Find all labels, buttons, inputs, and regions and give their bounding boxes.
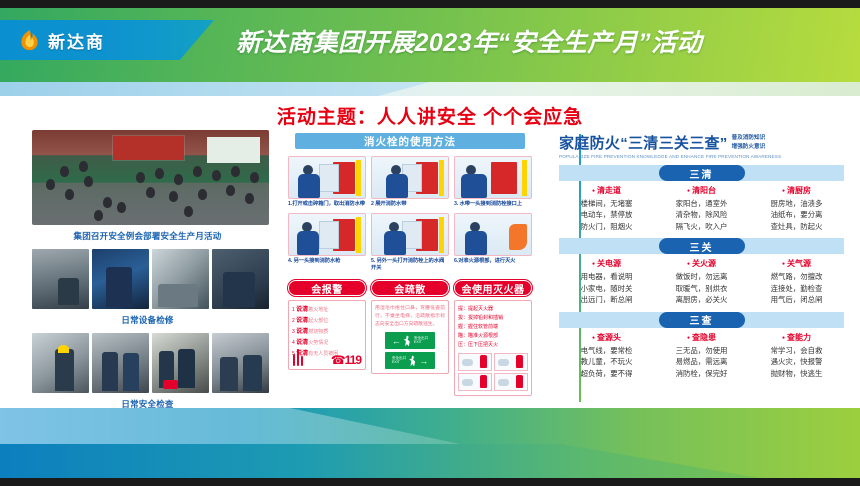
group-line: 用气后，闭总闸 xyxy=(749,294,844,305)
group-column-head: 关气源 xyxy=(749,258,844,269)
group-column: 清走道 楼梯间，无堵塞 电动车，禁停放 防火门，阻烟火 xyxy=(559,185,654,232)
group-line: 三无品，勿使用 xyxy=(654,345,749,356)
photo-inspection-4 xyxy=(212,333,269,393)
group-line: 电动车，禁停放 xyxy=(559,209,654,220)
extinguisher-diagram xyxy=(458,353,492,371)
photo-caption-maintenance: 日常设备检修 xyxy=(32,314,263,326)
group-line: 厨房地，油渍多 xyxy=(749,198,844,209)
group-column-head: 查能力 xyxy=(749,332,844,343)
poster-canvas: 新达商 新达商集团开展2023年“安全生产月”活动 活动主题：人人讲安全 个个会… xyxy=(0,0,860,486)
hydrant-step: 1.打开或击碎箱门，取出消防水带 xyxy=(288,156,366,209)
photo-row-maintenance xyxy=(32,249,269,309)
group-column: 清厨房 厨房地，油渍多 油纸布，要分离 查灶具，防起火 xyxy=(749,185,844,232)
group-pill: 三查 xyxy=(659,312,745,328)
group-line: 易燃品，需远离 xyxy=(654,356,749,367)
hydrant-step: 5. 另外一头打开消防栓上的水阀开关 xyxy=(371,213,449,273)
brand-name: 新达商 xyxy=(48,28,105,53)
content-columns: 集团召开安全例会部署安全生产月活动 日常设备检修 日常安全检查 消火栓的使用方法 xyxy=(0,130,860,408)
hydrant-panel-title: 消火栓的使用方法 xyxy=(294,132,526,150)
photo-caption-meeting: 集团召开安全例会部署安全生产月活动 xyxy=(32,230,263,242)
hydrant-step-image xyxy=(371,213,449,256)
header-divider-band xyxy=(0,82,860,96)
extinguisher-diagrams xyxy=(458,353,528,391)
photo-inspection-2 xyxy=(92,333,149,393)
photo-maintenance-3 xyxy=(152,249,209,309)
hydrant-panel: 消火栓的使用方法 1.打开或击碎箱门，取出消防水带 2 展开消防水带 xyxy=(275,130,545,408)
hydrant-step-caption: 6.对准火源根部，进行灭火 xyxy=(454,258,532,266)
ability-evacuate-title: 会疏散 xyxy=(371,280,449,296)
hydrant-step-image xyxy=(288,156,366,199)
flame-lines-icon xyxy=(293,348,305,366)
hydrant-step: 2 展开消防水带 xyxy=(371,156,449,209)
group-line: 常学习，会自救 xyxy=(749,345,844,356)
group-san-qing: 三清 清走道 楼梯间，无堵塞 电动车，禁停放 防火门，阻烟火 清阳台 家阳台，通… xyxy=(559,165,844,232)
group-line: 出远门，断总闸 xyxy=(559,294,654,305)
activity-theme: 活动主题：人人讲安全 个个会应急 xyxy=(0,100,860,130)
exit-sign-left-icon: ←安全出口EXIT xyxy=(385,332,435,349)
group-line: 楼梯间，无堵塞 xyxy=(559,198,654,209)
extinguisher-item: 提：提起灭火器 xyxy=(458,305,528,314)
evacuate-text: 用湿毛巾捂住口鼻，弯腰低姿前行，不乘坐电梯，沿疏散指示标志向安全出口方向疏散逃生… xyxy=(375,305,445,329)
hydrant-step: 6.对准火源根部，进行灭火 xyxy=(454,213,532,273)
hydrant-step-caption: 3. 水带一头接到消防栓接口上 xyxy=(454,201,532,209)
group-header: 三查 xyxy=(559,312,844,328)
group-column: 查隐患 三无品，勿使用 易燃品，需远离 消防栓，保完好 xyxy=(654,332,749,379)
ability-extinguisher-title: 会使用灭火器 xyxy=(454,280,532,296)
group-line: 隔飞火，吹入户 xyxy=(654,221,749,232)
emergency-number: ☎119 xyxy=(331,353,361,367)
extinguisher-item: 瞄：瞄准火源根部 xyxy=(458,332,528,341)
group-line: 做饭时，勿远离 xyxy=(654,271,749,282)
ability-alarm-title: 会报警 xyxy=(288,280,366,296)
brand-logo-plate: 新达商 xyxy=(0,20,214,60)
group-line: 电气线，要常检 xyxy=(559,345,654,356)
right-panel-title: 家庭防火“三清三关三查” 普及消防知识增强防火意识 xyxy=(559,130,844,153)
photo-people xyxy=(32,130,269,225)
group-column: 关电源 用电器，看说明 小家电，随时关 出远门，断总闸 xyxy=(559,258,654,305)
photo-maintenance-4 xyxy=(212,249,269,309)
group-column-head: 清阳台 xyxy=(654,185,749,196)
right-panel-subtitle: 普及消防知识增强防火意识 xyxy=(732,134,766,153)
group-line: 消防栓，保完好 xyxy=(654,368,749,379)
group-pill: 三清 xyxy=(659,165,745,181)
group-header: 三关 xyxy=(559,238,844,254)
extinguisher-diagram xyxy=(494,353,528,371)
hydrant-step-image xyxy=(454,156,532,199)
extinguisher-item: 拔：拔掉铅封和插销 xyxy=(458,314,528,323)
group-column: 查能力 常学习，会自救 遇火灾，快报警 抛财物，快逃生 xyxy=(749,332,844,379)
group-line: 防火门，阻烟火 xyxy=(559,221,654,232)
right-panel-title-text: 家庭防火“三清三关三查” xyxy=(559,132,728,153)
page-title: 新达商集团开展2023年“安全生产月”活动 xyxy=(236,24,836,58)
photo-row-inspection xyxy=(32,333,269,393)
hydrant-step-image xyxy=(288,213,366,256)
hydrant-step: 3. 水带一头接到消防栓接口上 xyxy=(454,156,532,209)
hydrant-step-caption: 4. 另一头接到消防水枪 xyxy=(288,258,366,266)
footer-gradient-band xyxy=(0,408,860,478)
hydrant-step-image xyxy=(371,156,449,199)
group-column-head: 查源头 xyxy=(559,332,654,343)
exit-sign-right-icon: 安全出口EXIT→ xyxy=(385,352,435,369)
group-san-guan: 三关 关电源 用电器，看说明 小家电，随时关 出远门，断总闸 关火源 做饭时，勿… xyxy=(559,238,844,305)
group-line: 超负荷，要不得 xyxy=(559,368,654,379)
group-column-head: 查隐患 xyxy=(654,332,749,343)
hydrant-step-caption: 2 展开消防水带 xyxy=(371,201,449,209)
group-line: 小家电，随时关 xyxy=(559,283,654,294)
group-line: 遇火灾，快报警 xyxy=(749,356,844,367)
group-column-head: 关火源 xyxy=(654,258,749,269)
home-fire-prevention-panel: 家庭防火“三清三关三查” 普及消防知识增强防火意识 POPULARIZE FIR… xyxy=(545,130,860,408)
three-abilities: 会报警 1 说清着火地址 2 说清起火部位 3 说清燃烧物质 4 说清火势情况 … xyxy=(288,280,532,396)
group-columns: 关电源 用电器，看说明 小家电，随时关 出远门，断总闸 关火源 做饭时，勿远离 … xyxy=(559,258,844,305)
group-column: 清阳台 家阳台，通室外 清杂物，除风险 隔飞火，吹入户 xyxy=(654,185,749,232)
group-column-head: 清厨房 xyxy=(749,185,844,196)
alarm-item: 1 说清着火地址 xyxy=(292,305,362,316)
ability-alarm-body: 1 说清着火地址 2 说清起火部位 3 说清燃烧物质 4 说清火势情况 5 说清… xyxy=(288,300,366,370)
hydrant-step: 4. 另一头接到消防水枪 xyxy=(288,213,366,273)
extinguisher-item: 压：压下压把灭火 xyxy=(458,341,528,350)
group-line: 油纸布，要分离 xyxy=(749,209,844,220)
group-line: 用电器，看说明 xyxy=(559,271,654,282)
footer-wedge-dark xyxy=(0,444,860,478)
group-column: 查源头 电气线，要常检 教儿童，不玩火 超负荷，要不得 xyxy=(559,332,654,379)
group-san-cha: 三查 查源头 电气线，要常检 教儿童，不玩火 超负荷，要不得 查隐患 三无品，勿… xyxy=(559,312,844,379)
extinguisher-diagram xyxy=(494,373,528,391)
group-columns: 清走道 楼梯间，无堵塞 电动车，禁停放 防火门，阻烟火 清阳台 家阳台，通室外 … xyxy=(559,185,844,232)
ability-evacuate: 会疏散 用湿毛巾捂住口鼻，弯腰低姿前行，不乘坐电梯，沿疏散指示标志向安全出口方向… xyxy=(371,280,449,396)
group-header: 三清 xyxy=(559,165,844,181)
hydrant-step-image xyxy=(454,213,532,256)
extinguisher-item: 握：握住软管前端 xyxy=(458,323,528,332)
ability-alarm: 会报警 1 说清着火地址 2 说清起火部位 3 说清燃烧物质 4 说清火势情况 … xyxy=(288,280,366,396)
alarm-item: 3 说清燃烧物质 xyxy=(292,327,362,338)
group-line: 家阳台，通室外 xyxy=(654,198,749,209)
group-column-head: 关电源 xyxy=(559,258,654,269)
hydrant-step-caption: 5. 另外一头打开消防栓上的水阀开关 xyxy=(371,258,449,273)
photo-inspection-1 xyxy=(32,333,89,393)
group-line: 查灶具，防起火 xyxy=(749,221,844,232)
photo-meeting xyxy=(32,130,269,225)
group-column: 关气源 燃气路，勿擅改 连接处，勤检查 用气后，闭总闸 xyxy=(749,258,844,305)
group-line: 抛财物，快逃生 xyxy=(749,368,844,379)
hydrant-steps: 1.打开或击碎箱门，取出消防水带 2 展开消防水带 3. 水带一头接到消防栓接口… xyxy=(288,156,532,273)
ability-extinguisher: 会使用灭火器 提：提起灭火器 拔：拔掉铅封和插销 握：握住软管前端 瞄：瞄准火源… xyxy=(454,280,532,396)
ability-extinguisher-body: 提：提起灭火器 拔：拔掉铅封和插销 握：握住软管前端 瞄：瞄准火源根部 压：压下… xyxy=(454,300,532,396)
group-line: 取暖气，别烘衣 xyxy=(654,283,749,294)
extinguisher-diagram xyxy=(458,373,492,391)
group-line: 清杂物，除风险 xyxy=(654,209,749,220)
ability-evacuate-body: 用湿毛巾捂住口鼻，弯腰低姿前行，不乘坐电梯，沿疏散指示标志向安全出口方向疏散逃生… xyxy=(371,300,449,374)
group-column: 关火源 做饭时，勿远离 取暖气，别烘衣 离厨房，必关火 xyxy=(654,258,749,305)
group-columns: 查源头 电气线，要常检 教儿童，不玩火 超负荷，要不得 查隐患 三无品，勿使用 … xyxy=(559,332,844,379)
hydrant-step-caption: 1.打开或击碎箱门，取出消防水带 xyxy=(288,201,366,209)
group-line: 离厨房，必关火 xyxy=(654,294,749,305)
alarm-item: 2 说清起火部位 xyxy=(292,316,362,327)
group-line: 连接处，勤检查 xyxy=(749,283,844,294)
photo-column: 集团召开安全例会部署安全生产月活动 日常设备检修 日常安全检查 xyxy=(0,130,275,408)
photo-maintenance-2 xyxy=(92,249,149,309)
flame-icon xyxy=(18,29,41,52)
photo-inspection-3 xyxy=(152,333,209,393)
right-panel-title-en: POPULARIZE FIRE PREVENTION KNOWLEDGE AND… xyxy=(559,154,844,159)
group-line: 燃气路，勿擅改 xyxy=(749,271,844,282)
group-column-head: 清走道 xyxy=(559,185,654,196)
photo-maintenance-1 xyxy=(32,249,89,309)
group-line: 教儿童，不玩火 xyxy=(559,356,654,367)
group-pill: 三关 xyxy=(659,238,745,254)
